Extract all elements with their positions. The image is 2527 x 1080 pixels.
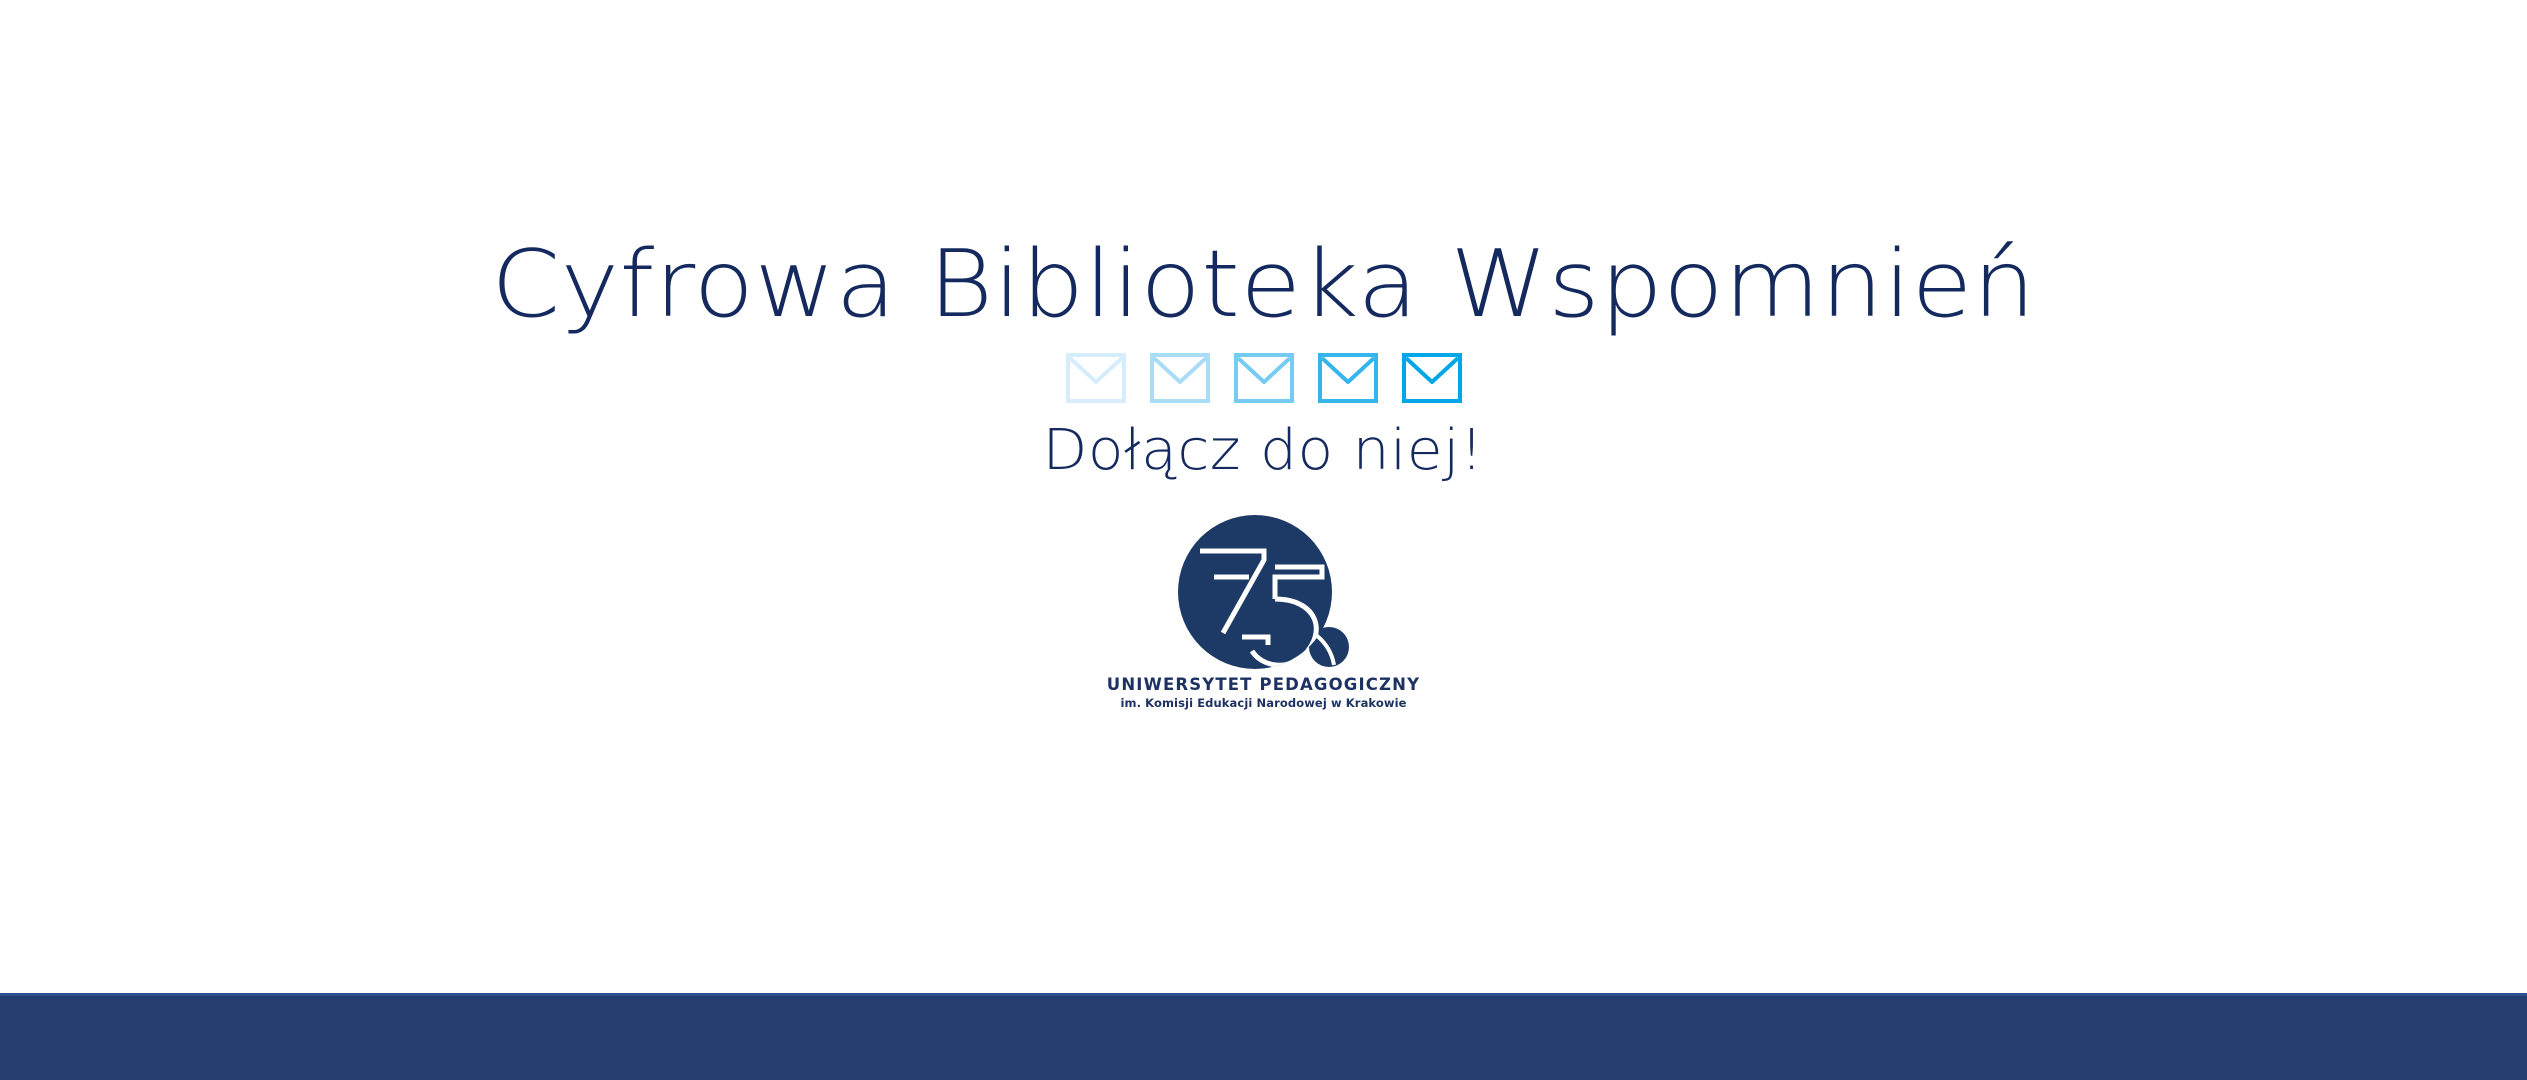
slide-content-stack: Cyfrowa Biblioteka Wspomnień: [0, 0, 2527, 993]
envelope-icon: [1402, 353, 1462, 403]
anniversary-75-logo-icon: [1176, 515, 1351, 671]
page-title: Cyfrowa Biblioteka Wspomnień: [491, 238, 2036, 331]
envelope-icon: [1234, 353, 1294, 403]
footer-band-highlight: [0, 993, 2527, 996]
footer-band: [0, 993, 2527, 1080]
slide-canvas: Cyfrowa Biblioteka Wspomnień: [0, 0, 2527, 1080]
envelope-icon: [1150, 353, 1210, 403]
envelope-icon-row: [1066, 353, 1462, 403]
envelope-icon: [1066, 353, 1126, 403]
page-subtitle: Dołącz do niej!: [1043, 423, 1484, 479]
university-subtitle: im. Komisji Edukacji Narodowej w Krakowi…: [1120, 696, 1406, 710]
university-name: UNIWERSYTET PEDAGOGICZNY: [1107, 675, 1420, 694]
university-logo: UNIWERSYTET PEDAGOGICZNY im. Komisji Edu…: [1107, 515, 1420, 710]
envelope-icon: [1318, 353, 1378, 403]
